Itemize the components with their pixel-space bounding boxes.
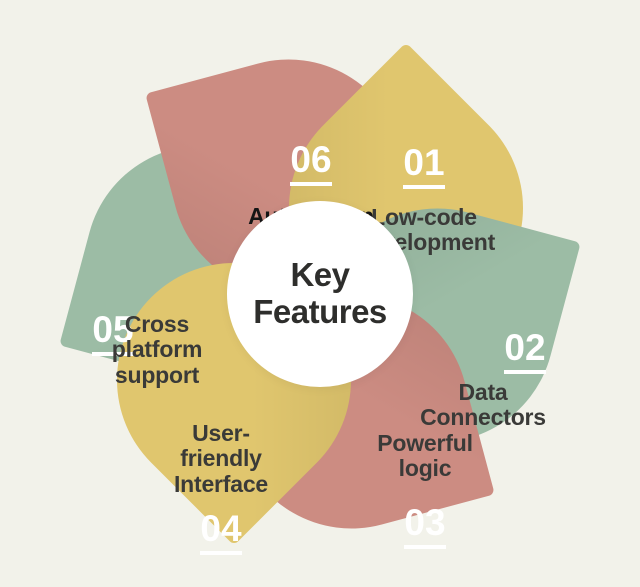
- center-hub[interactable]: Key Features: [227, 201, 413, 387]
- center-title: Key Features: [253, 257, 387, 330]
- key-features-flower-diagram: 06 Automation 01 Low-code Development 02…: [0, 0, 640, 587]
